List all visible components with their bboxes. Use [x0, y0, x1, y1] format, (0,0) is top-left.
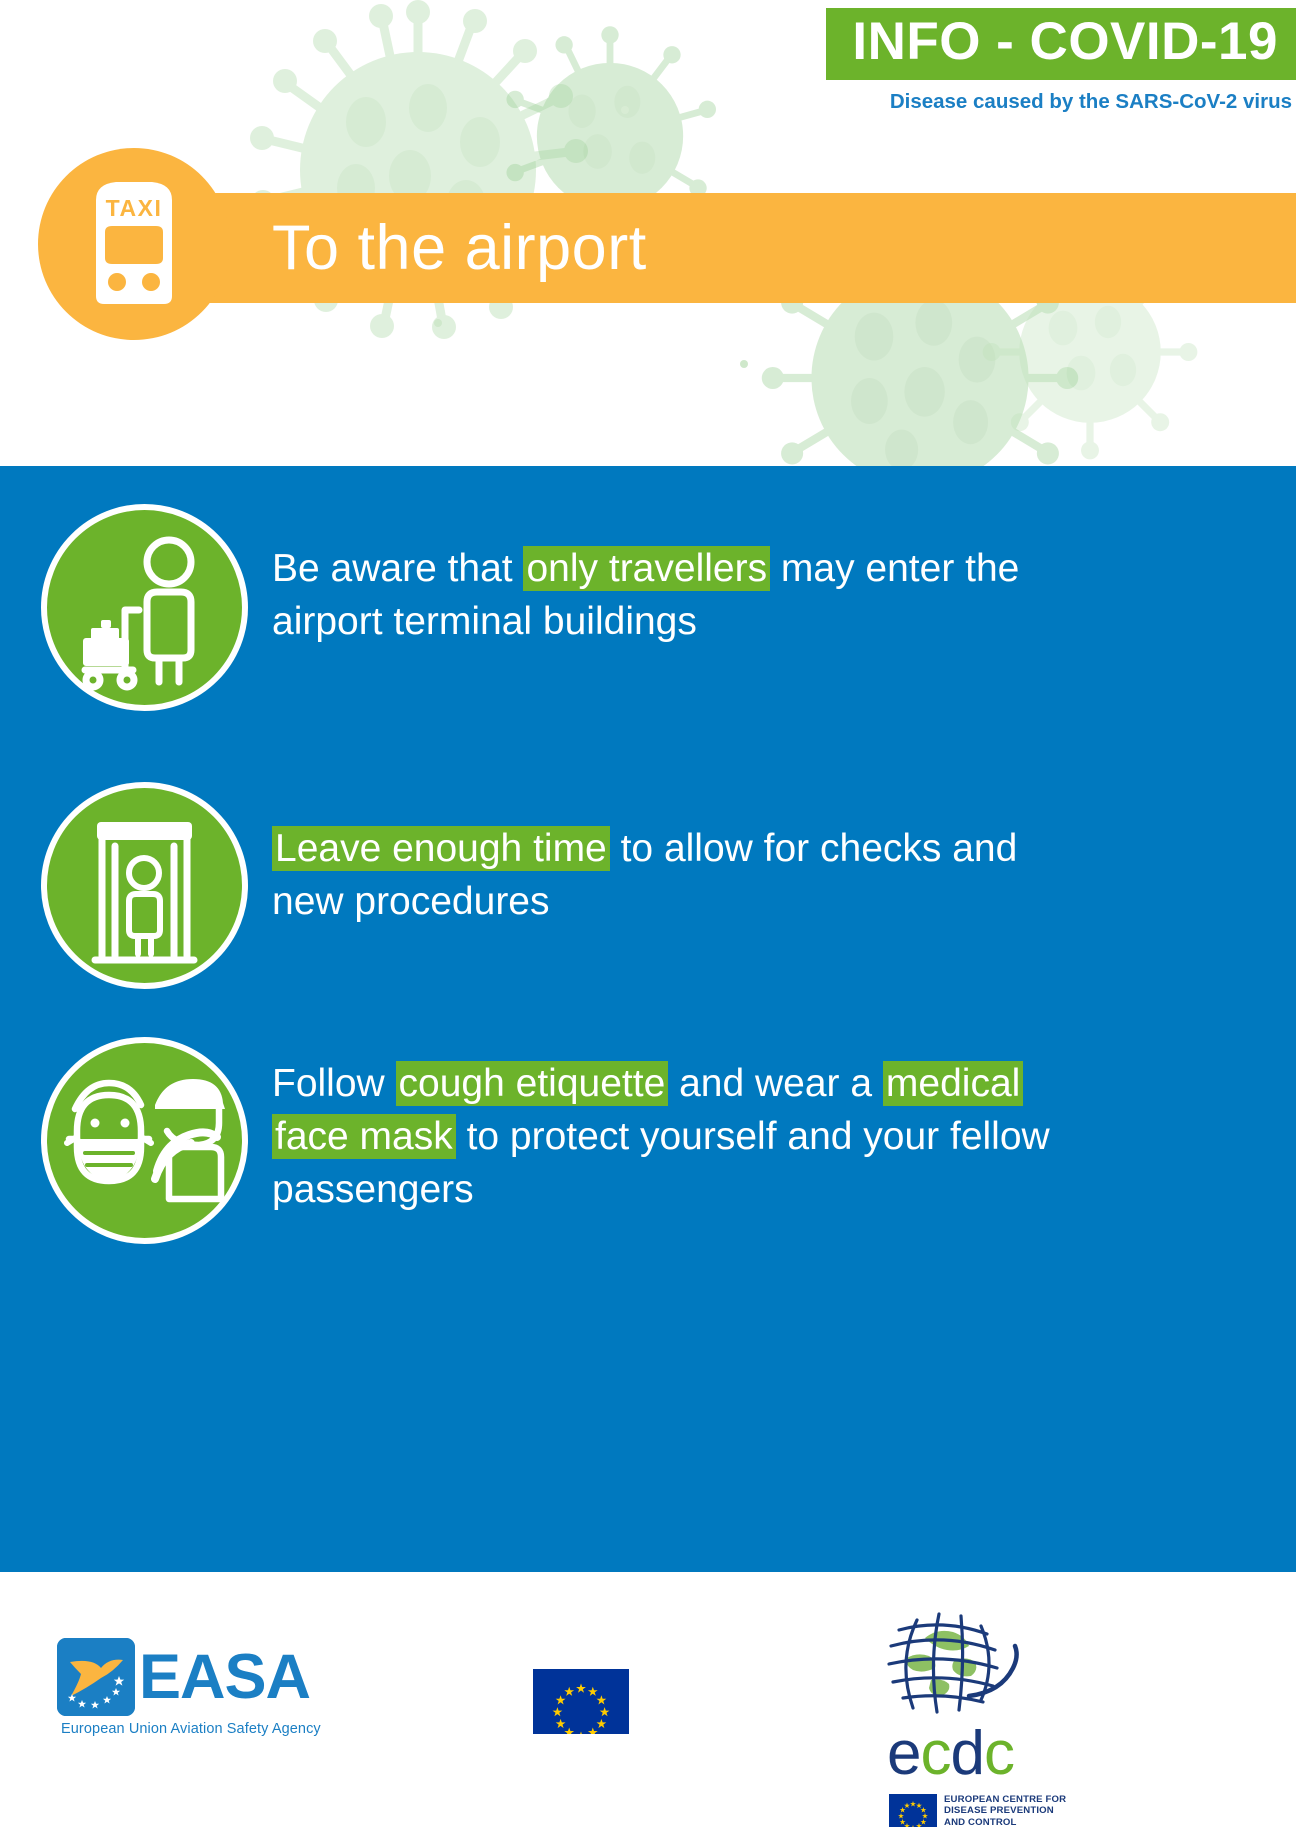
ecdc-letter-d: d	[950, 1719, 983, 1788]
covid-info-badge-label: INFO - COVID-19	[852, 14, 1278, 70]
page-title: To the airport	[272, 196, 647, 300]
ecdc-wordmark: ecdc	[887, 1723, 1085, 1785]
easa-wordmark: EASA	[139, 1644, 310, 1710]
highlighted-text: Leave enough time	[272, 826, 610, 871]
list-item-text: Leave enough time to allow for checks an…	[272, 822, 1082, 928]
poster: INFO - COVID-19 Disease caused by the SA…	[0, 0, 1296, 1833]
virus-speck-a	[434, 319, 442, 327]
ecdc-letter-c2: c	[984, 1719, 1014, 1788]
ecdc-globe-icon	[855, 1610, 1085, 1727]
ecdc-caption-line-1: EUROPEAN CENTRE FOR	[944, 1794, 1066, 1805]
footer: EASA European Union Aviation Safety Agen…	[0, 1572, 1296, 1833]
ecdc-letter-c: c	[920, 1719, 950, 1788]
security-scanner-gate-icon	[41, 782, 248, 989]
ecdc-letter-e: e	[887, 1719, 920, 1788]
easa-logo: EASA European Union Aviation Safety Agen…	[57, 1638, 357, 1737]
highlighted-text: cough etiquette	[396, 1061, 669, 1106]
text-segment: and wear a	[668, 1062, 883, 1105]
easa-tagline: European Union Aviation Safety Agency	[61, 1721, 357, 1737]
easa-bird-mark-icon	[57, 1638, 135, 1716]
virus-speck-b	[740, 360, 748, 368]
header-subtitle: Disease caused by the SARS-CoV-2 virus	[890, 90, 1292, 114]
ecdc-logo: ecdc	[855, 1610, 1085, 1828]
ecdc-european-union-flag	[889, 1794, 937, 1827]
covid-info-badge: INFO - COVID-19	[826, 8, 1296, 80]
taxi-icon-label: TAXI	[106, 195, 163, 221]
highlighted-text: only travellers	[523, 546, 770, 591]
text-segment: Follow	[272, 1062, 396, 1105]
text-segment: Be aware that	[272, 547, 523, 590]
virus-speck-c	[621, 106, 629, 114]
taxi-icon: TAXI	[38, 148, 230, 340]
list-item-text: Follow cough etiquette and wear a medica…	[272, 1057, 1082, 1216]
ecdc-caption-line-3: AND CONTROL	[944, 1817, 1066, 1828]
ecdc-caption-line-2: DISEASE PREVENTION	[944, 1805, 1066, 1816]
face-mask-and-cough-etiquette-icon	[41, 1037, 248, 1244]
european-union-flag	[533, 1669, 629, 1734]
passenger-with-luggage-trolley-icon	[41, 504, 248, 711]
ecdc-caption: EUROPEAN CENTRE FOR DISEASE PREVENTION A…	[944, 1794, 1066, 1828]
list-item-text: Be aware that only travellers may enter …	[272, 542, 1082, 648]
